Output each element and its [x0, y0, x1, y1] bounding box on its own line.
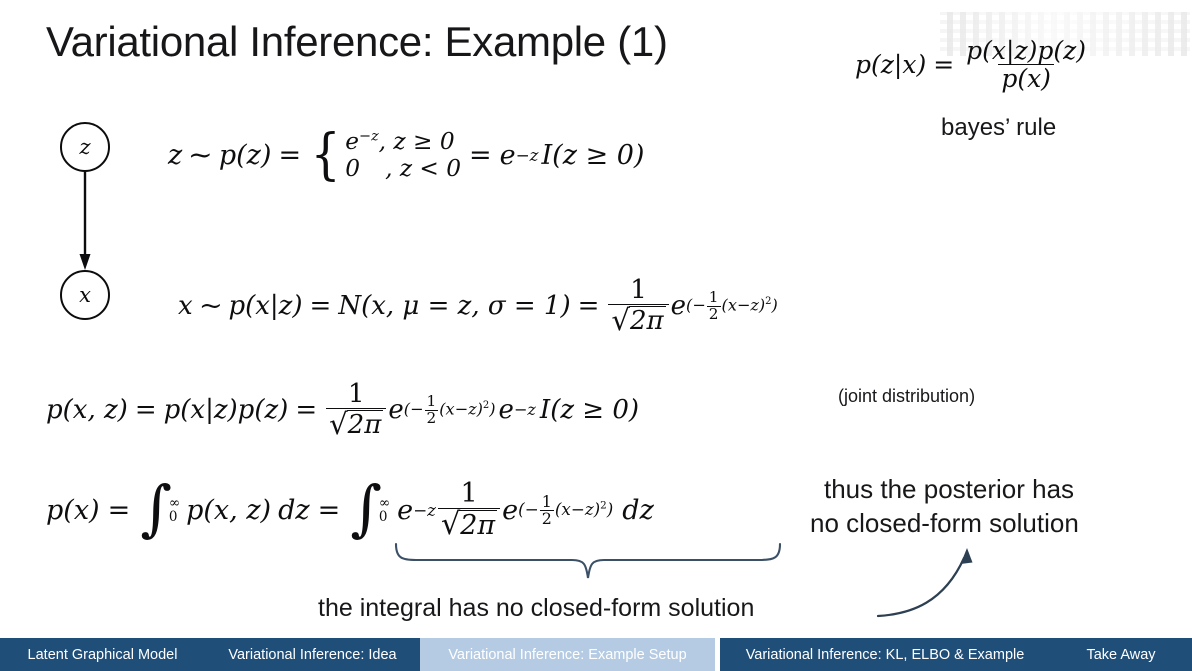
jt-sup-close: ): [489, 400, 495, 419]
likelihood-frac-den: √2π: [608, 304, 668, 335]
joint-exp-base: e: [388, 397, 403, 423]
nav-item-label: Latent Graphical Model: [28, 647, 178, 663]
sqrt-2pi: √2π: [611, 306, 665, 335]
evidence-frac-den: √2π: [438, 508, 500, 540]
joint-factorization: p(x|z)p(z): [164, 397, 289, 423]
int2-lower: 0: [379, 511, 390, 525]
cases-row-1: e−z, z ≥ 0: [345, 128, 461, 155]
nav-item-label: Variational Inference: KL, ELBO & Exampl…: [746, 647, 1025, 663]
prior-case-2: 0: [345, 155, 360, 182]
bayes-rule-caption: bayes’ rule: [941, 114, 1056, 142]
joint-frac-num: 1: [345, 381, 368, 408]
cases-brace: {: [311, 133, 341, 178]
likelihood-exponent: (−12(x−z)2): [686, 290, 778, 322]
likelihood-normal: N(x, μ = z, σ = 1): [338, 293, 570, 319]
nav-item-label: Take Away: [1086, 647, 1155, 663]
likelihood-tilde: ~: [199, 293, 223, 319]
evidence-equation: p(x) = ∫ ∞ 0 p(x, z) dz = ∫ ∞ 0 e−z 1 √2…: [46, 480, 654, 540]
bottom-nav[interactable]: Latent Graphical Model Variational Infer…: [0, 638, 1192, 671]
joint-radicand: 2π: [347, 410, 384, 439]
nav-item-variational-inference-example-setup[interactable]: Variational Inference: Example Setup: [420, 638, 715, 671]
prior-equation: z ~ p(z) = { e−z, z ≥ 0 0, z < 0 = e−z I…: [168, 128, 644, 183]
z-node-label: z: [79, 135, 90, 159]
evidence-fraction: 1 √2π: [438, 480, 500, 540]
likelihood-exp-base: e: [671, 293, 686, 319]
ev-sup-open: (−: [518, 499, 539, 519]
ev-half: 12: [540, 494, 554, 527]
lk-half: 12: [707, 290, 721, 322]
evidence-equals: =: [108, 497, 131, 524]
ev-sup-tail: (x−z): [555, 499, 600, 519]
lk-sup-close: ): [772, 296, 778, 315]
evidence-dz-1: dz: [278, 497, 310, 524]
prior-equals-2: =: [469, 142, 492, 169]
cases-row-2: 0, z < 0: [345, 155, 461, 182]
jt-sup-tail: (x−z): [439, 400, 483, 419]
joint-fraction: 1 √2π: [326, 381, 386, 439]
ev-sup-close: ): [607, 499, 614, 519]
joint-distribution-note: (joint distribution): [838, 386, 975, 407]
prior-case-1: e: [345, 128, 359, 155]
ev-half-num: 1: [540, 494, 554, 510]
evidence-frac-num: 1: [457, 480, 480, 508]
nav-item-latent-graphical-model[interactable]: Latent Graphical Model: [0, 638, 205, 671]
joint-equation: p(x, z) = p(x|z)p(z) = 1 √2π e (−12(x−z)…: [46, 381, 639, 439]
brace-caption: the integral has no closed-form solution: [318, 594, 754, 623]
nav-item-label: Variational Inference: Example Setup: [448, 647, 686, 663]
evidence-radicand: 2π: [459, 510, 497, 540]
int1-lower: 0: [169, 511, 180, 525]
jt-sup-open: (−: [404, 400, 424, 419]
evidence-exp2-base: e: [502, 497, 518, 524]
jt-half-num: 1: [425, 394, 439, 409]
evidence-equals-2: =: [318, 497, 341, 524]
posterior-note-line-2: no closed-form solution: [810, 508, 1079, 539]
likelihood-equals: =: [310, 293, 332, 319]
likelihood-dist: p(x|z): [228, 293, 302, 319]
prior-dist: p(z): [219, 142, 272, 169]
joint-frac-den: √2π: [326, 408, 386, 439]
prior-rhs-base: e: [500, 142, 516, 169]
likelihood-radicand: 2π: [629, 306, 666, 335]
integral-symbol-1: ∫ ∞ 0: [140, 488, 180, 532]
bayes-numerator: p(x|z)p(z): [963, 38, 1089, 64]
jt-half-den: 2: [425, 410, 439, 426]
ev-half-den: 2: [540, 510, 554, 527]
lk-sup-open: (−: [686, 296, 706, 315]
evidence-integrand-1: p(x, z): [186, 497, 271, 524]
joint-indicator: I(z ≥ 0): [540, 397, 639, 423]
lk-half-num: 1: [707, 290, 721, 305]
bayes-fraction: p(x|z)p(z) p(x): [963, 38, 1089, 91]
likelihood-equation: x ~ p(x|z) = N(x, μ = z, σ = 1) = 1 √2π …: [178, 277, 778, 335]
prior-rhs-indicator: I(z ≥ 0): [542, 142, 645, 169]
bayes-lhs: p(z|x): [855, 52, 926, 77]
bayes-denominator: p(x): [998, 64, 1054, 91]
nav-item-take-away[interactable]: Take Away: [1050, 638, 1192, 671]
prior-tilde: ~: [188, 142, 213, 169]
cases-rows: e−z, z ≥ 0 0, z < 0: [345, 128, 461, 183]
lk-half-den: 2: [707, 306, 721, 322]
likelihood-frac-num: 1: [627, 277, 650, 304]
evidence-exp2-sup: (−12(x−z)2): [518, 494, 613, 527]
sqrt-2pi-evidence: √2π: [441, 510, 497, 540]
nav-item-variational-inference-idea[interactable]: Variational Inference: Idea: [205, 638, 420, 671]
posterior-note-line-1: thus the posterior has: [824, 474, 1074, 505]
z-to-x-arrow: [60, 168, 112, 276]
evidence-dz-2: dz: [622, 497, 654, 524]
nav-item-label: Variational Inference: Idea: [228, 647, 396, 663]
prior-case-1-exp: −z: [359, 128, 379, 144]
evidence-exp-base: e: [397, 497, 413, 524]
x-node-label: x: [79, 283, 91, 307]
prior-case-2-cond: , z < 0: [385, 155, 461, 182]
joint-exp2-base: e: [499, 397, 514, 423]
joint-equals-2: =: [295, 397, 317, 423]
prior-equals: =: [278, 142, 301, 169]
likelihood-equals-2: =: [578, 293, 600, 319]
underbrace: [392, 540, 784, 582]
nav-item-variational-inference-kl-elbo-example[interactable]: Variational Inference: KL, ELBO & Exampl…: [720, 638, 1050, 671]
likelihood-lhs-var: x: [178, 293, 193, 319]
lk-sup-tail: (x−z): [722, 296, 766, 315]
likelihood-fraction: 1 √2π: [608, 277, 668, 335]
bayes-equals: =: [933, 52, 954, 77]
prior-case-1-cond: , z ≥ 0: [379, 128, 455, 155]
prior-lhs-var: z: [168, 142, 182, 169]
page-title: Variational Inference: Example (1): [46, 18, 668, 66]
prior-cases: { e−z, z ≥ 0 0, z < 0: [308, 128, 461, 183]
joint-exponent: (−12(x−z)2): [404, 394, 496, 426]
joint-equals: =: [135, 397, 157, 423]
ev-sup-power: 2: [600, 499, 607, 511]
z-node: z: [60, 122, 110, 172]
curved-arrow-icon: [872, 542, 982, 624]
jt-half: 12: [425, 394, 439, 426]
joint-lhs: p(x, z): [46, 397, 128, 423]
x-node: x: [60, 270, 110, 320]
sqrt-2pi-joint: √2π: [329, 410, 383, 439]
evidence-lhs: p(x): [46, 497, 100, 524]
integral-symbol-2: ∫ ∞ 0: [350, 488, 390, 532]
bayes-rule-formula: p(z|x) = p(x|z)p(z) p(x): [855, 38, 1091, 91]
